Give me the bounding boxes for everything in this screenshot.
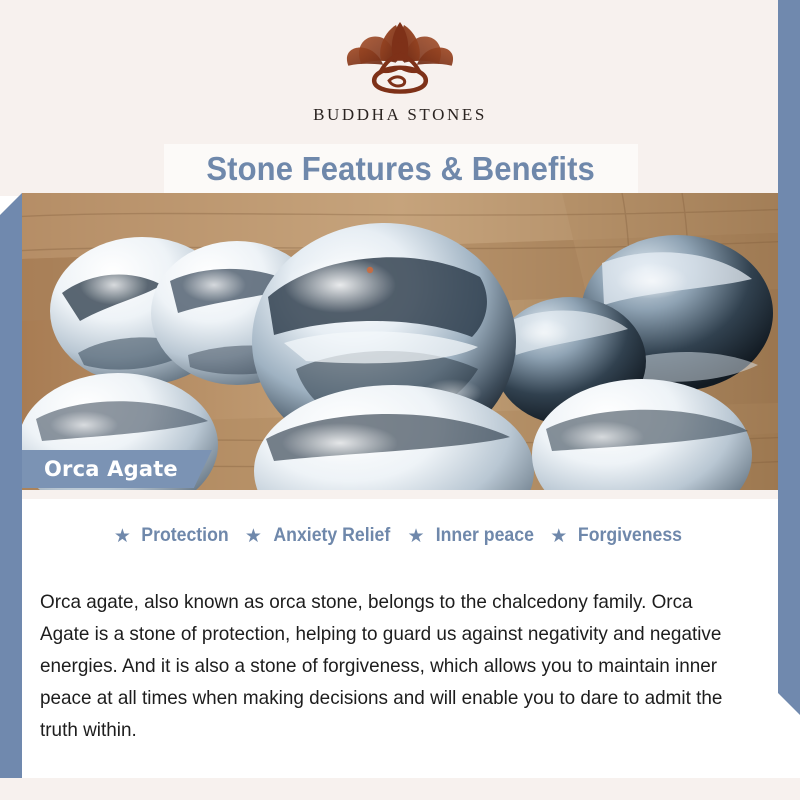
bottom-strip: [0, 778, 800, 800]
accent-bar-right: [778, 0, 800, 715]
panel-top-strip: [22, 490, 778, 499]
benefit-label: Inner peace: [435, 525, 533, 547]
benefit-item: ★ Protection: [114, 525, 232, 547]
benefit-item: ★ Inner peace: [408, 525, 538, 547]
stone-name-banner: Orca Agate: [22, 450, 212, 488]
stone-photo: [22, 193, 778, 490]
page-title: Stone Features & Benefits: [164, 144, 638, 193]
page-title-text: Stone Features & Benefits: [207, 150, 595, 188]
benefit-label: Protection: [141, 525, 228, 547]
benefits-list: ★ Protection ★ Anxiety Relief ★ Inner pe…: [22, 525, 778, 547]
lotus-meditation-figure-icon: [325, 18, 475, 100]
stone-name-text: Orca Agate: [44, 457, 178, 481]
benefit-item: ★ Forgiveness: [550, 525, 686, 547]
brand-name: BUDDHA STONES: [0, 105, 800, 125]
benefit-item: ★ Anxiety Relief: [245, 525, 395, 547]
star-icon: ★: [245, 527, 262, 546]
star-icon: ★: [114, 527, 131, 546]
star-icon: ★: [550, 527, 567, 546]
benefit-label: Anxiety Relief: [273, 525, 390, 547]
brand-logo: BUDDHA STONES: [0, 18, 800, 125]
star-icon: ★: [408, 527, 425, 546]
benefit-label: Forgiveness: [578, 525, 682, 547]
accent-bar-left: [0, 193, 22, 778]
infographic-card: BUDDHA STONES: [0, 0, 800, 800]
content-panel: ★ Protection ★ Anxiety Relief ★ Inner pe…: [22, 490, 778, 778]
stone-description: Orca agate, also known as orca stone, be…: [40, 586, 738, 746]
